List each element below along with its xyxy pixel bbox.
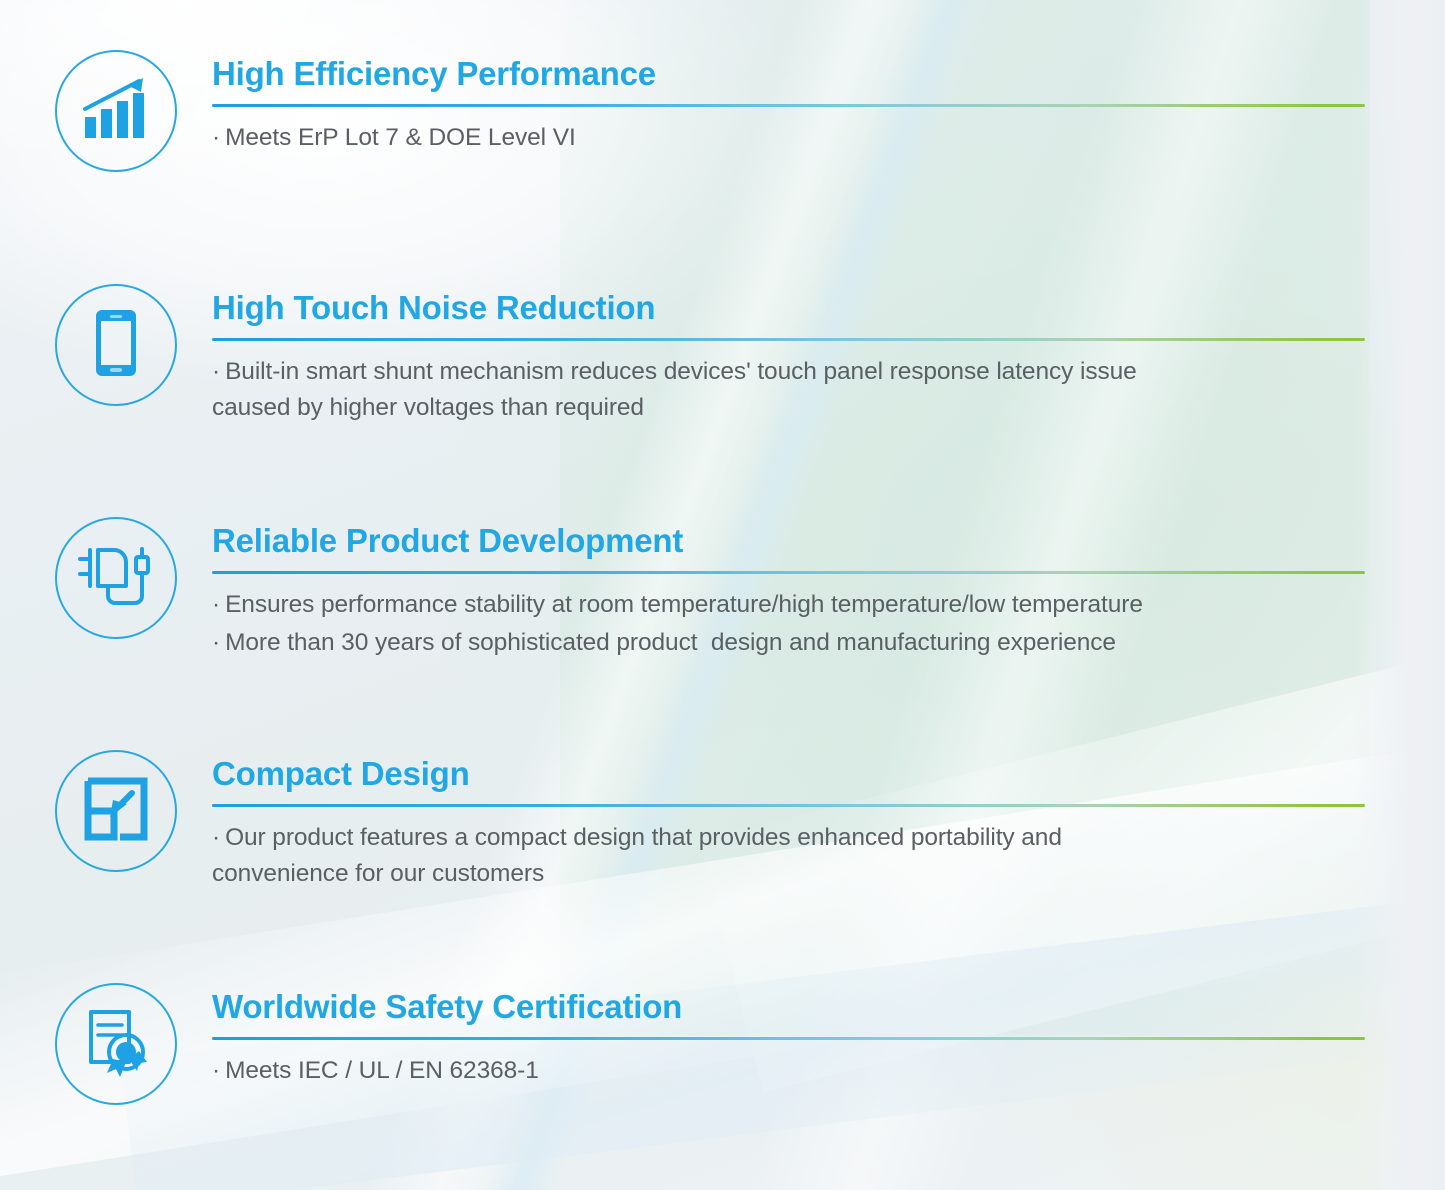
feature-divider (212, 104, 1365, 107)
feature-title: High Touch Noise Reduction (212, 290, 1365, 326)
bullet-marker: · (212, 629, 220, 656)
certificate-award-icon (83, 1007, 149, 1082)
bullet-text: Our product features a compact design th… (212, 824, 1062, 887)
icon-badge (55, 50, 177, 172)
feature-bullet: ·More than 30 years of sophisticated pro… (212, 625, 1365, 661)
bar-chart-growth-icon (81, 76, 151, 147)
feature-title: High Efficiency Performance (212, 56, 1365, 92)
feature-divider (212, 571, 1365, 574)
feature-body: Worldwide Safety Certification ·Meets IE… (212, 983, 1365, 1089)
feature-sheet: High Efficiency Performance ·Meets ErP L… (0, 0, 1445, 1190)
feature-bullet: ·Meets IEC / UL / EN 62368-1 (212, 1053, 1365, 1089)
bullet-marker: · (212, 824, 220, 851)
feature-bullet: ·Meets ErP Lot 7 & DOE Level VI (212, 120, 1365, 156)
feature-body: High Touch Noise Reduction ·Built-in sma… (212, 284, 1365, 425)
feature-body: Reliable Product Development ·Ensures pe… (212, 517, 1365, 660)
icon-badge (55, 983, 177, 1105)
feature-body: High Efficiency Performance ·Meets ErP L… (212, 50, 1365, 156)
bullet-text: Meets ErP Lot 7 & DOE Level VI (225, 124, 576, 151)
feature-item-high-touch-noise-reduction: High Touch Noise Reduction ·Built-in sma… (55, 284, 1365, 425)
feature-bullet: ·Our product features a compact design t… (212, 820, 1365, 891)
icon-badge (55, 517, 177, 639)
bullet-text: Ensures performance stability at room te… (225, 591, 1143, 618)
smartphone-icon (94, 308, 138, 383)
feature-divider (212, 1037, 1365, 1040)
background-right-edge (1355, 0, 1445, 1190)
bullet-marker: · (212, 1057, 220, 1084)
feature-divider (212, 804, 1365, 807)
bullet-marker: · (212, 591, 220, 618)
icon-badge (55, 284, 177, 406)
feature-title: Compact Design (212, 756, 1365, 792)
feature-bullet: ·Ensures performance stability at room t… (212, 587, 1365, 623)
feature-body: Compact Design ·Our product features a c… (212, 750, 1365, 891)
bullet-text: More than 30 years of sophisticated prod… (225, 629, 1116, 656)
icon-badge (55, 750, 177, 872)
feature-divider (212, 338, 1365, 341)
power-adapter-icon (76, 543, 156, 614)
feature-title: Worldwide Safety Certification (212, 989, 1365, 1025)
compact-resize-icon (84, 777, 148, 846)
feature-title: Reliable Product Development (212, 523, 1365, 559)
bullet-marker: · (212, 358, 220, 385)
bullet-marker: · (212, 124, 220, 151)
bullet-text: Built-in smart shunt mechanism reduces d… (212, 358, 1137, 421)
feature-item-compact-design: Compact Design ·Our product features a c… (55, 750, 1365, 891)
feature-bullet: ·Built-in smart shunt mechanism reduces … (212, 354, 1365, 425)
feature-item-reliable-product-development: Reliable Product Development ·Ensures pe… (55, 517, 1365, 660)
feature-item-high-efficiency-performance: High Efficiency Performance ·Meets ErP L… (55, 50, 1365, 172)
bullet-text: Meets IEC / UL / EN 62368-1 (225, 1057, 539, 1084)
feature-item-worldwide-safety-certification: Worldwide Safety Certification ·Meets IE… (55, 983, 1365, 1105)
